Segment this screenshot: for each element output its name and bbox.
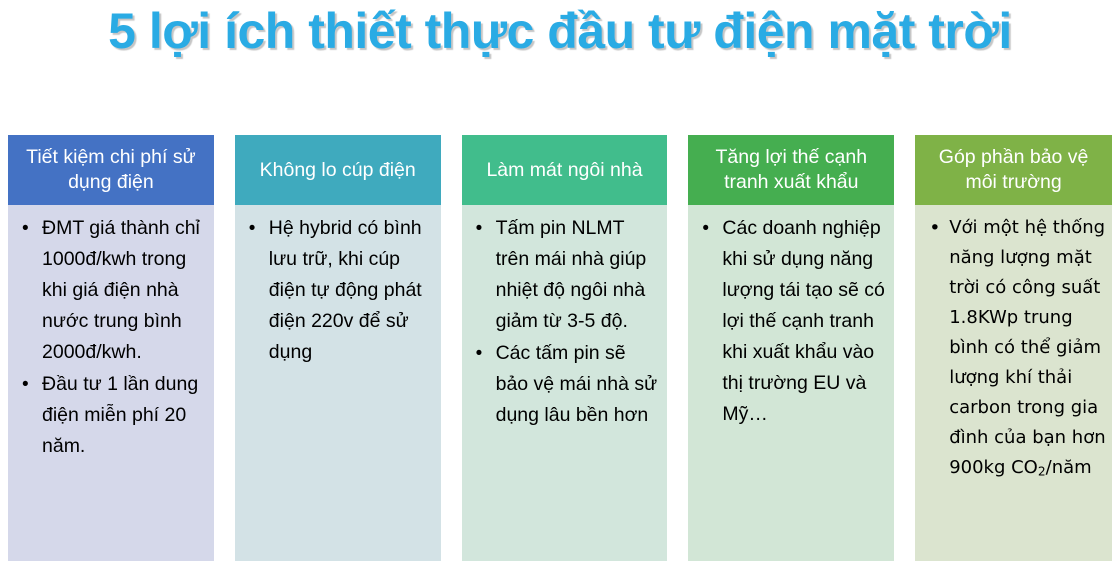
- list-item: Với một hệ thống năng lượng mặt trời có …: [927, 213, 1106, 487]
- benefit-column-5-body: Với một hệ thống năng lượng mặt trời có …: [915, 205, 1112, 561]
- benefit-column-2-header: Không lo cúp điện: [235, 135, 441, 205]
- list-item: Các tấm pin sẽ bảo vệ mái nhà sử dụng lâ…: [474, 338, 662, 431]
- slide: 5 lợi ích thiết thực đầu tư điện mặt trờ…: [0, 0, 1120, 577]
- benefits-columns: Tiết kiệm chi phí sử dụng điện ĐMT giá t…: [8, 135, 1112, 561]
- benefit-column-2-body: Hệ hybrid có bình lưu trữ, khi cúp điện …: [235, 205, 441, 561]
- benefit-column-2-bullet-list: Hệ hybrid có bình lưu trữ, khi cúp điện …: [239, 213, 435, 368]
- list-item: Tấm pin NLMT trên mái nhà giúp nhiệt độ …: [474, 213, 662, 337]
- benefit-column-3-body: Tấm pin NLMT trên mái nhà giúp nhiệt độ …: [462, 205, 668, 561]
- benefit-column-2: Không lo cúp điện Hệ hybrid có bình lưu …: [235, 135, 441, 561]
- benefit-column-4: Tăng lợi thế cạnh tranh xuất khẩu Các do…: [688, 135, 894, 561]
- list-item: Đầu tư 1 lần dung điện miễn phí 20 năm.: [20, 369, 208, 462]
- list-item: Hệ hybrid có bình lưu trữ, khi cúp điện …: [247, 213, 435, 368]
- benefit-column-5-header: Góp phần bảo vệ môi trường: [915, 135, 1112, 205]
- benefit-column-1-body: ĐMT giá thành chỉ 1000đ/kwh trong khi gi…: [8, 205, 214, 561]
- benefit-column-3-header: Làm mát ngôi nhà: [462, 135, 668, 205]
- benefit-column-1-header: Tiết kiệm chi phí sử dụng điện: [8, 135, 214, 205]
- benefit-column-4-bullet-list: Các doanh nghiệp khi sử dụng năng lượng …: [692, 213, 888, 430]
- benefit-column-4-header: Tăng lợi thế cạnh tranh xuất khẩu: [688, 135, 894, 205]
- benefit-column-1: Tiết kiệm chi phí sử dụng điện ĐMT giá t…: [8, 135, 214, 561]
- page-title: 5 lợi ích thiết thực đầu tư điện mặt trờ…: [0, 2, 1120, 60]
- benefit-column-1-bullet-list: ĐMT giá thành chỉ 1000đ/kwh trong khi gi…: [12, 213, 208, 462]
- list-item: ĐMT giá thành chỉ 1000đ/kwh trong khi gi…: [20, 213, 208, 368]
- benefit-column-3-bullet-list: Tấm pin NLMT trên mái nhà giúp nhiệt độ …: [466, 213, 662, 431]
- benefit-column-4-body: Các doanh nghiệp khi sử dụng năng lượng …: [688, 205, 894, 561]
- list-item: Các doanh nghiệp khi sử dụng năng lượng …: [700, 213, 888, 430]
- benefit-column-5: Góp phần bảo vệ môi trường Với một hệ th…: [915, 135, 1112, 561]
- benefit-column-3: Làm mát ngôi nhà Tấm pin NLMT trên mái n…: [462, 135, 668, 561]
- benefit-column-5-bullet-list: Với một hệ thống năng lượng mặt trời có …: [919, 213, 1106, 487]
